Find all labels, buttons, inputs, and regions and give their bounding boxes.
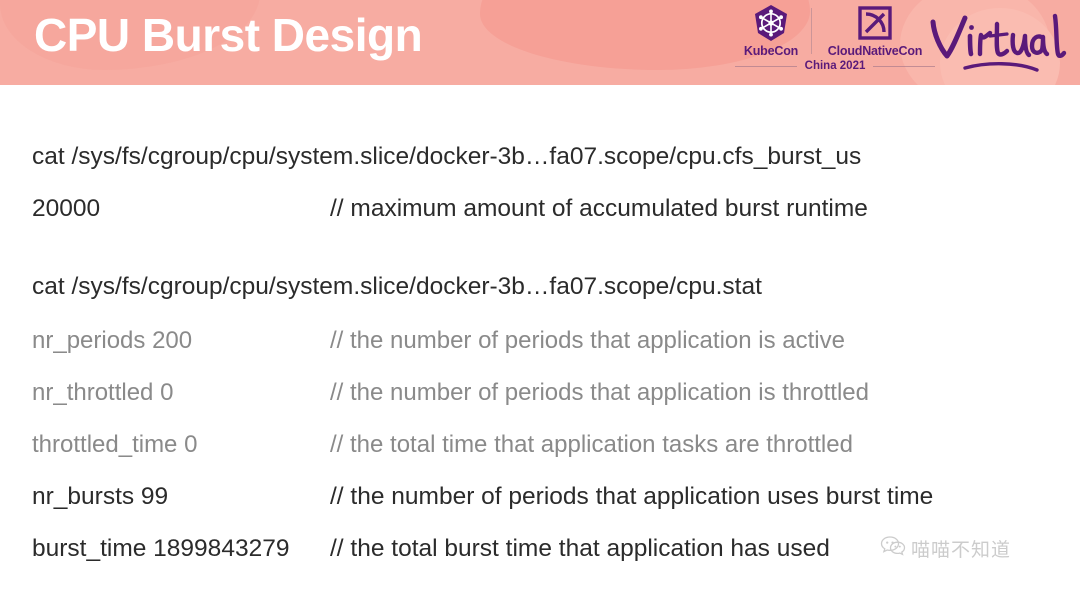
output-comment: // the total time that application tasks…: [330, 431, 853, 459]
event-year-row: China 2021: [735, 60, 935, 72]
slide-cpu-burst-design: CPU Burst Design: [0, 0, 1080, 604]
logo-divider: [811, 8, 812, 54]
code-line-stat-throttled-time: throttled_time 0// the total time that a…: [32, 431, 853, 459]
page-title: CPU Burst Design: [34, 8, 422, 62]
output-comment: // the number of periods that applicatio…: [330, 327, 845, 355]
output-value: throttled_time 0: [32, 431, 330, 459]
cloudnativecon-label: CloudNativeCon: [817, 44, 933, 58]
output-value: nr_periods 200: [32, 327, 330, 355]
command-text: cat /sys/fs/cgroup/cpu/system.slice/dock…: [32, 273, 762, 301]
code-line-stat-burst-time: burst_time 1899843279// the total burst …: [32, 535, 830, 563]
kubecon-label: KubeCon: [735, 44, 807, 58]
year-rule-left: [735, 66, 797, 67]
kubecon-cloudnativecon-logo: KubeCon CloudNativeCon China 2021: [735, 2, 935, 82]
output-comment: // the number of periods that applicatio…: [330, 379, 869, 407]
output-value: nr_bursts 99: [32, 483, 330, 511]
command-text: cat /sys/fs/cgroup/cpu/system.slice/dock…: [32, 143, 861, 171]
output-value: 20000: [32, 195, 330, 223]
code-line-cmd-cpu-stat: cat /sys/fs/cgroup/cpu/system.slice/dock…: [32, 273, 762, 301]
cloudnativecon-logo-group: CloudNativeCon: [817, 2, 933, 58]
output-value: burst_time 1899843279: [32, 535, 330, 563]
watermark: 喵喵不知道: [880, 535, 1011, 562]
slide-header: CPU Burst Design: [0, 0, 1080, 85]
virtual-wordmark: [925, 8, 1070, 78]
code-line-stat-nr-throttled: nr_throttled 0// the number of periods t…: [32, 379, 869, 407]
output-comment: // the total burst time that application…: [330, 535, 830, 563]
cncf-square-icon: [817, 2, 933, 44]
watermark-text: 喵喵不知道: [911, 535, 1011, 562]
code-line-cmd-cfs-burst-us: cat /sys/fs/cgroup/cpu/system.slice/dock…: [32, 143, 861, 171]
output-value: nr_throttled 0: [32, 379, 330, 407]
wechat-icon: [880, 535, 906, 562]
code-line-out-cfs-burst-us: 20000// maximum amount of accumulated bu…: [32, 195, 868, 223]
slide-body: cat /sys/fs/cgroup/cpu/system.slice/dock…: [0, 85, 1080, 604]
code-line-stat-nr-periods: nr_periods 200// the number of periods t…: [32, 327, 845, 355]
code-line-stat-nr-bursts: nr_bursts 99// the number of periods tha…: [32, 483, 933, 511]
kubecon-logo-group: KubeCon: [735, 2, 807, 58]
output-comment: // the number of periods that applicatio…: [330, 483, 933, 511]
event-year-label: China 2021: [805, 60, 866, 72]
kubernetes-helm-icon: [735, 2, 807, 44]
output-comment: // maximum amount of accumulated burst r…: [330, 195, 868, 223]
